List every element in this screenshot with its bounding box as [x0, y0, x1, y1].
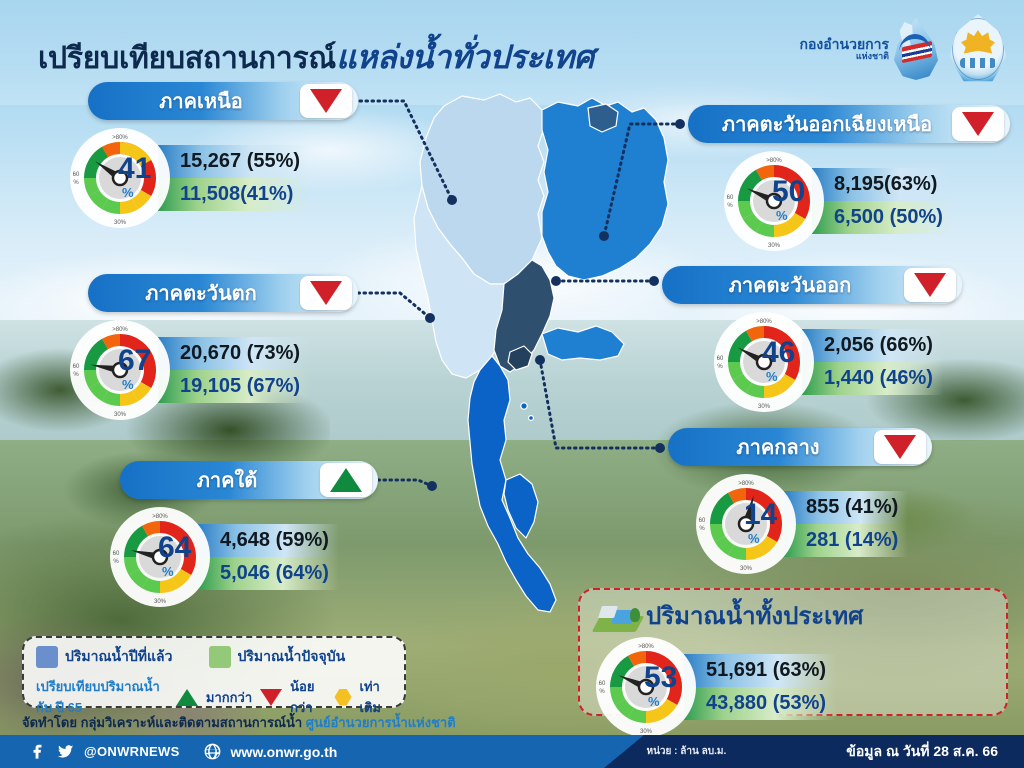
legend-swatch-current: [209, 646, 231, 668]
region-pill-west[interactable]: ภาคตะวันตก: [88, 274, 358, 312]
region-body-northeast: >80% 60 % 30% 50 % 8,195(63%) 6,500 (50%…: [722, 149, 1010, 253]
previous-value-east: 2,056 (66%): [824, 334, 933, 357]
page-title-part1: เปรียบเทียบสถานการณ์: [38, 42, 336, 75]
svg-text:%: %: [113, 559, 119, 565]
region-pill-northeast[interactable]: ภาคตะวันออกเฉียงเหนือ: [688, 105, 1010, 143]
map-region-east: [542, 326, 624, 360]
current-value-row-east: 1,440 (46%): [802, 362, 943, 395]
trend-box-north: [300, 84, 352, 118]
region-body-central: >80% 60 % 30% 14 % 855 (41%) 281 (14%): [694, 472, 932, 576]
svg-text:%: %: [73, 180, 79, 186]
svg-text:%: %: [699, 526, 705, 532]
svg-text:>80%: >80%: [112, 135, 128, 141]
trend-box-central: [874, 430, 926, 464]
region-name-northeast: ภาคตะวันออกเฉียงเหนือ: [688, 108, 952, 140]
page-title: เปรียบเทียบสถานการณ์แหล่งน้ำทั่วประเทศ: [38, 32, 594, 83]
map-island-2: [529, 416, 534, 421]
national-values: 51,691 (63%) 43,880 (53%): [684, 654, 836, 720]
triangle-down-icon: [962, 112, 994, 136]
gauge-value-northeast: 50 %: [772, 177, 824, 222]
footer-right-group: หน่วย : ล้าน ลบ.ม. ข้อมูล ณ วันที่ 28 ส.…: [647, 735, 1024, 768]
previous-value-row-central: 855 (41%): [784, 491, 908, 524]
current-value-row-south: 5,046 (64%): [198, 557, 339, 590]
gauge-number-national: 53: [644, 661, 677, 694]
trend-box-northeast: [952, 107, 1004, 141]
gauge-number-west: 67: [118, 344, 151, 377]
current-value-row-central: 281 (14%): [784, 524, 908, 557]
current-value-northeast: 6,500 (50%): [834, 206, 943, 229]
region-body-east: >80% 60 % 30% 46 % 2,056 (66%) 1,440 (46…: [712, 310, 962, 414]
svg-text:30%: 30%: [114, 220, 127, 226]
trend-box-south: [320, 463, 372, 497]
svg-text:60: 60: [113, 551, 120, 557]
onwr-seal-emblem-icon: [948, 14, 1008, 84]
previous-value-west: 20,670 (73%): [180, 342, 300, 365]
svg-text:%: %: [599, 689, 605, 695]
region-name-east: ภาคตะวันออก: [662, 269, 904, 301]
gauge-national: >80% 60 % 30% 53 %: [594, 635, 698, 739]
page-title-part2: แหล่งน้ำทั่วประเทศ: [336, 39, 594, 75]
region-panel-central[interactable]: ภาคกลาง >80% 60 %: [668, 428, 932, 576]
legend-item-previous: ปริมาณน้ำปีที่แล้ว: [36, 646, 173, 668]
svg-text:60: 60: [73, 364, 80, 370]
header-logos: กองอำนวยการ แห่งชาติ: [800, 14, 1008, 84]
credit-line: จัดทำโดย กลุ่มวิเคราะห์และติดตามสถานการณ…: [22, 712, 456, 733]
gauge-northeast: >80% 60 % 30% 50 %: [722, 149, 826, 253]
region-name-west: ภาคตะวันตก: [88, 277, 300, 309]
gauge-unit-central: %: [748, 532, 796, 545]
svg-text:%: %: [727, 203, 733, 209]
current-value-west: 19,105 (67%): [180, 375, 300, 398]
legend-row-swatches: ปริมาณน้ำปีที่แล้ว ปริมาณน้ำปัจจุบัน: [36, 646, 392, 668]
region-pill-east[interactable]: ภาคตะวันออก: [662, 266, 962, 304]
legend-label-current: ปริมาณน้ำปัจจุบัน: [238, 646, 346, 668]
previous-value-north: 15,267 (55%): [180, 150, 300, 173]
svg-text:>80%: >80%: [766, 158, 782, 164]
current-value-central: 281 (14%): [806, 529, 898, 552]
national-title: ปริมาณน้ำทั้งประเทศ: [646, 596, 863, 635]
svg-text:>80%: >80%: [152, 514, 168, 520]
svg-text:30%: 30%: [114, 412, 127, 418]
onwr-logo-line2: แห่งชาติ: [800, 52, 889, 61]
region-body-west: >80% 60 % 30% 67 % 20,670 (73%) 19,105 (…: [68, 318, 358, 422]
region-body-south: >80% 60 % 30% 64 % 4,648 (59%) 5,046 (64…: [108, 505, 378, 609]
gauge-unit-northeast: %: [776, 209, 824, 222]
region-values-east: 2,056 (66%) 1,440 (46%): [802, 329, 943, 395]
legend-box: ปริมาณน้ำปีที่แล้ว ปริมาณน้ำปัจจุบัน เปร…: [22, 636, 406, 708]
gauge-unit-west: %: [122, 378, 170, 391]
thailand-map: [392, 88, 692, 633]
region-panel-west[interactable]: ภาคตะวันตก >80% 60: [88, 274, 358, 422]
map-island-1: [521, 403, 527, 409]
gauge-value-national: 53 %: [644, 663, 696, 708]
svg-text:60: 60: [717, 356, 724, 362]
current-value-row-west: 19,105 (67%): [158, 370, 310, 403]
diamond-equal-icon: [334, 689, 351, 706]
gauge-unit-national: %: [648, 695, 696, 708]
gauge-south: >80% 60 % 30% 64 %: [108, 505, 212, 609]
triangle-down-icon: [310, 89, 342, 113]
region-name-north: ภาคเหนือ: [88, 85, 300, 117]
region-values-south: 4,648 (59%) 5,046 (64%): [198, 524, 339, 590]
region-pill-north[interactable]: ภาคเหนือ: [88, 82, 358, 120]
gauge-unit-east: %: [766, 370, 814, 383]
triangle-up-icon: [330, 468, 362, 492]
current-value-row-national: 43,880 (53%): [684, 687, 836, 720]
gauge-value-north: 41 %: [118, 154, 170, 199]
gauge-number-east: 46: [762, 336, 795, 369]
triangle-up-icon: [176, 689, 198, 706]
current-value-row-north: 11,508(41%): [158, 178, 310, 211]
previous-value-south: 4,648 (59%): [220, 529, 329, 552]
gauge-east: >80% 60 % 30% 46 %: [712, 310, 816, 414]
triangle-down-icon: [914, 273, 946, 297]
gauge-value-east: 46 %: [762, 338, 814, 383]
gauge-unit-north: %: [122, 186, 170, 199]
gauge-value-west: 67 %: [118, 346, 170, 391]
current-value-east: 1,440 (46%): [824, 367, 933, 390]
footer-left-group: @ONWRNEWS www.onwr.go.th: [0, 742, 337, 761]
globe-icon[interactable]: [203, 742, 222, 761]
twitter-icon[interactable]: [56, 742, 75, 761]
region-panel-south[interactable]: ภาคใต้ >80% 60 %: [120, 461, 378, 609]
region-body-north: >80% 60 % 30% 41 % 15,267 (55%) 11,508(4…: [68, 126, 358, 230]
current-value-north: 11,508(41%): [180, 183, 293, 206]
current-value-national: 43,880 (53%): [706, 692, 826, 715]
region-panel-east[interactable]: ภาคตะวันออก >80% 60: [662, 266, 962, 414]
previous-value-row-east: 2,056 (66%): [802, 329, 943, 362]
gauge-value-central: 14 %: [744, 500, 796, 545]
national-total-box[interactable]: ปริมาณน้ำทั้งประเทศ >80% 60 %: [578, 588, 1008, 716]
gauge-north: >80% 60 % 30% 41 %: [68, 126, 172, 230]
previous-value-row-west: 20,670 (73%): [158, 337, 310, 370]
svg-text:%: %: [717, 364, 723, 370]
onwr-logo: กองอำนวยการ แห่งชาติ: [800, 18, 940, 80]
region-values-northeast: 8,195(63%) 6,500 (50%): [812, 168, 953, 234]
national-body: >80% 60 % 30% 53 % 51,691 (63%) 43,880 (…: [580, 635, 1006, 739]
region-values-west: 20,670 (73%) 19,105 (67%): [158, 337, 310, 403]
svg-text:>80%: >80%: [112, 327, 128, 333]
previous-value-national: 51,691 (63%): [706, 659, 826, 682]
trend-box-west: [300, 276, 352, 310]
credit-text-dark: จัดทำโดย กลุ่มวิเคราะห์และติดตามสถานการณ…: [22, 715, 306, 730]
current-value-south: 5,046 (64%): [220, 562, 329, 585]
triangle-down-icon: [310, 281, 342, 305]
previous-value-row-national: 51,691 (63%): [684, 654, 836, 687]
svg-text:30%: 30%: [154, 599, 167, 605]
footer-bar: @ONWRNEWS www.onwr.go.th หน่วย : ล้าน ลบ…: [0, 735, 1024, 768]
legend-label-previous: ปริมาณน้ำปีที่แล้ว: [65, 646, 173, 668]
svg-text:60: 60: [599, 681, 606, 687]
region-panel-northeast[interactable]: ภาคตะวันออกเฉียงเหนือ >80%: [688, 105, 1010, 253]
svg-text:%: %: [73, 372, 79, 378]
svg-text:60: 60: [73, 172, 80, 178]
svg-text:>80%: >80%: [638, 644, 654, 650]
legend-item-current: ปริมาณน้ำปัจจุบัน: [209, 646, 346, 668]
previous-value-central: 855 (41%): [806, 496, 898, 519]
social-handle[interactable]: @ONWRNEWS: [84, 744, 180, 759]
trend-box-east: [904, 268, 956, 302]
national-header: ปริมาณน้ำทั้งประเทศ: [580, 590, 1006, 635]
svg-text:60: 60: [727, 195, 734, 201]
onwr-logo-text: กองอำนวยการ แห่งชาติ: [800, 37, 889, 61]
facebook-icon[interactable]: [28, 742, 47, 761]
region-pill-south[interactable]: ภาคใต้: [120, 461, 378, 499]
gauge-central: >80% 60 % 30% 14 %: [694, 472, 798, 576]
svg-text:30%: 30%: [768, 243, 781, 249]
previous-value-row-north: 15,267 (55%): [158, 145, 310, 178]
gauge-number-central: 14: [744, 498, 777, 531]
credit-text-blue: ศูนย์อำนวยการน้ำแห่งชาติ: [306, 715, 456, 730]
svg-text:>80%: >80%: [756, 319, 772, 325]
previous-value-row-northeast: 8,195(63%): [812, 168, 953, 201]
svg-text:>80%: >80%: [738, 481, 754, 487]
legend-swatch-previous: [36, 646, 58, 668]
triangle-down-icon: [260, 689, 282, 706]
date-note: ข้อมูล ณ วันที่ 28 ส.ค. 66: [846, 741, 998, 763]
onwr-logo-line1: กองอำนวยการ: [800, 37, 889, 52]
svg-text:60: 60: [699, 518, 706, 524]
svg-text:30%: 30%: [740, 566, 753, 572]
gauge-number-south: 64: [158, 531, 191, 564]
unit-note: หน่วย : ล้าน ลบ.ม.: [647, 744, 727, 759]
gauge-value-south: 64 %: [158, 533, 210, 578]
gauge-west: >80% 60 % 30% 67 %: [68, 318, 172, 422]
region-values-central: 855 (41%) 281 (14%): [784, 491, 908, 557]
region-panel-north[interactable]: ภาคเหนือ: [88, 82, 358, 230]
legend-label-more: มากกว่า: [206, 687, 252, 708]
current-value-row-northeast: 6,500 (50%): [812, 201, 953, 234]
svg-text:30%: 30%: [758, 404, 771, 410]
website-url[interactable]: www.onwr.go.th: [231, 744, 338, 760]
gauge-unit-south: %: [162, 565, 210, 578]
previous-value-northeast: 8,195(63%): [834, 173, 937, 196]
region-values-north: 15,267 (55%) 11,508(41%): [158, 145, 310, 211]
region-name-central: ภาคกลาง: [668, 431, 874, 463]
region-name-south: ภาคใต้: [120, 464, 320, 496]
water-drop-thailand-logo-icon: [892, 18, 940, 80]
water-treatment-plant-icon: [596, 600, 640, 632]
gauge-number-north: 41: [118, 152, 151, 185]
region-pill-central[interactable]: ภาคกลาง: [668, 428, 932, 466]
triangle-down-icon: [884, 435, 916, 459]
previous-value-row-south: 4,648 (59%): [198, 524, 339, 557]
gauge-number-northeast: 50: [772, 175, 805, 208]
